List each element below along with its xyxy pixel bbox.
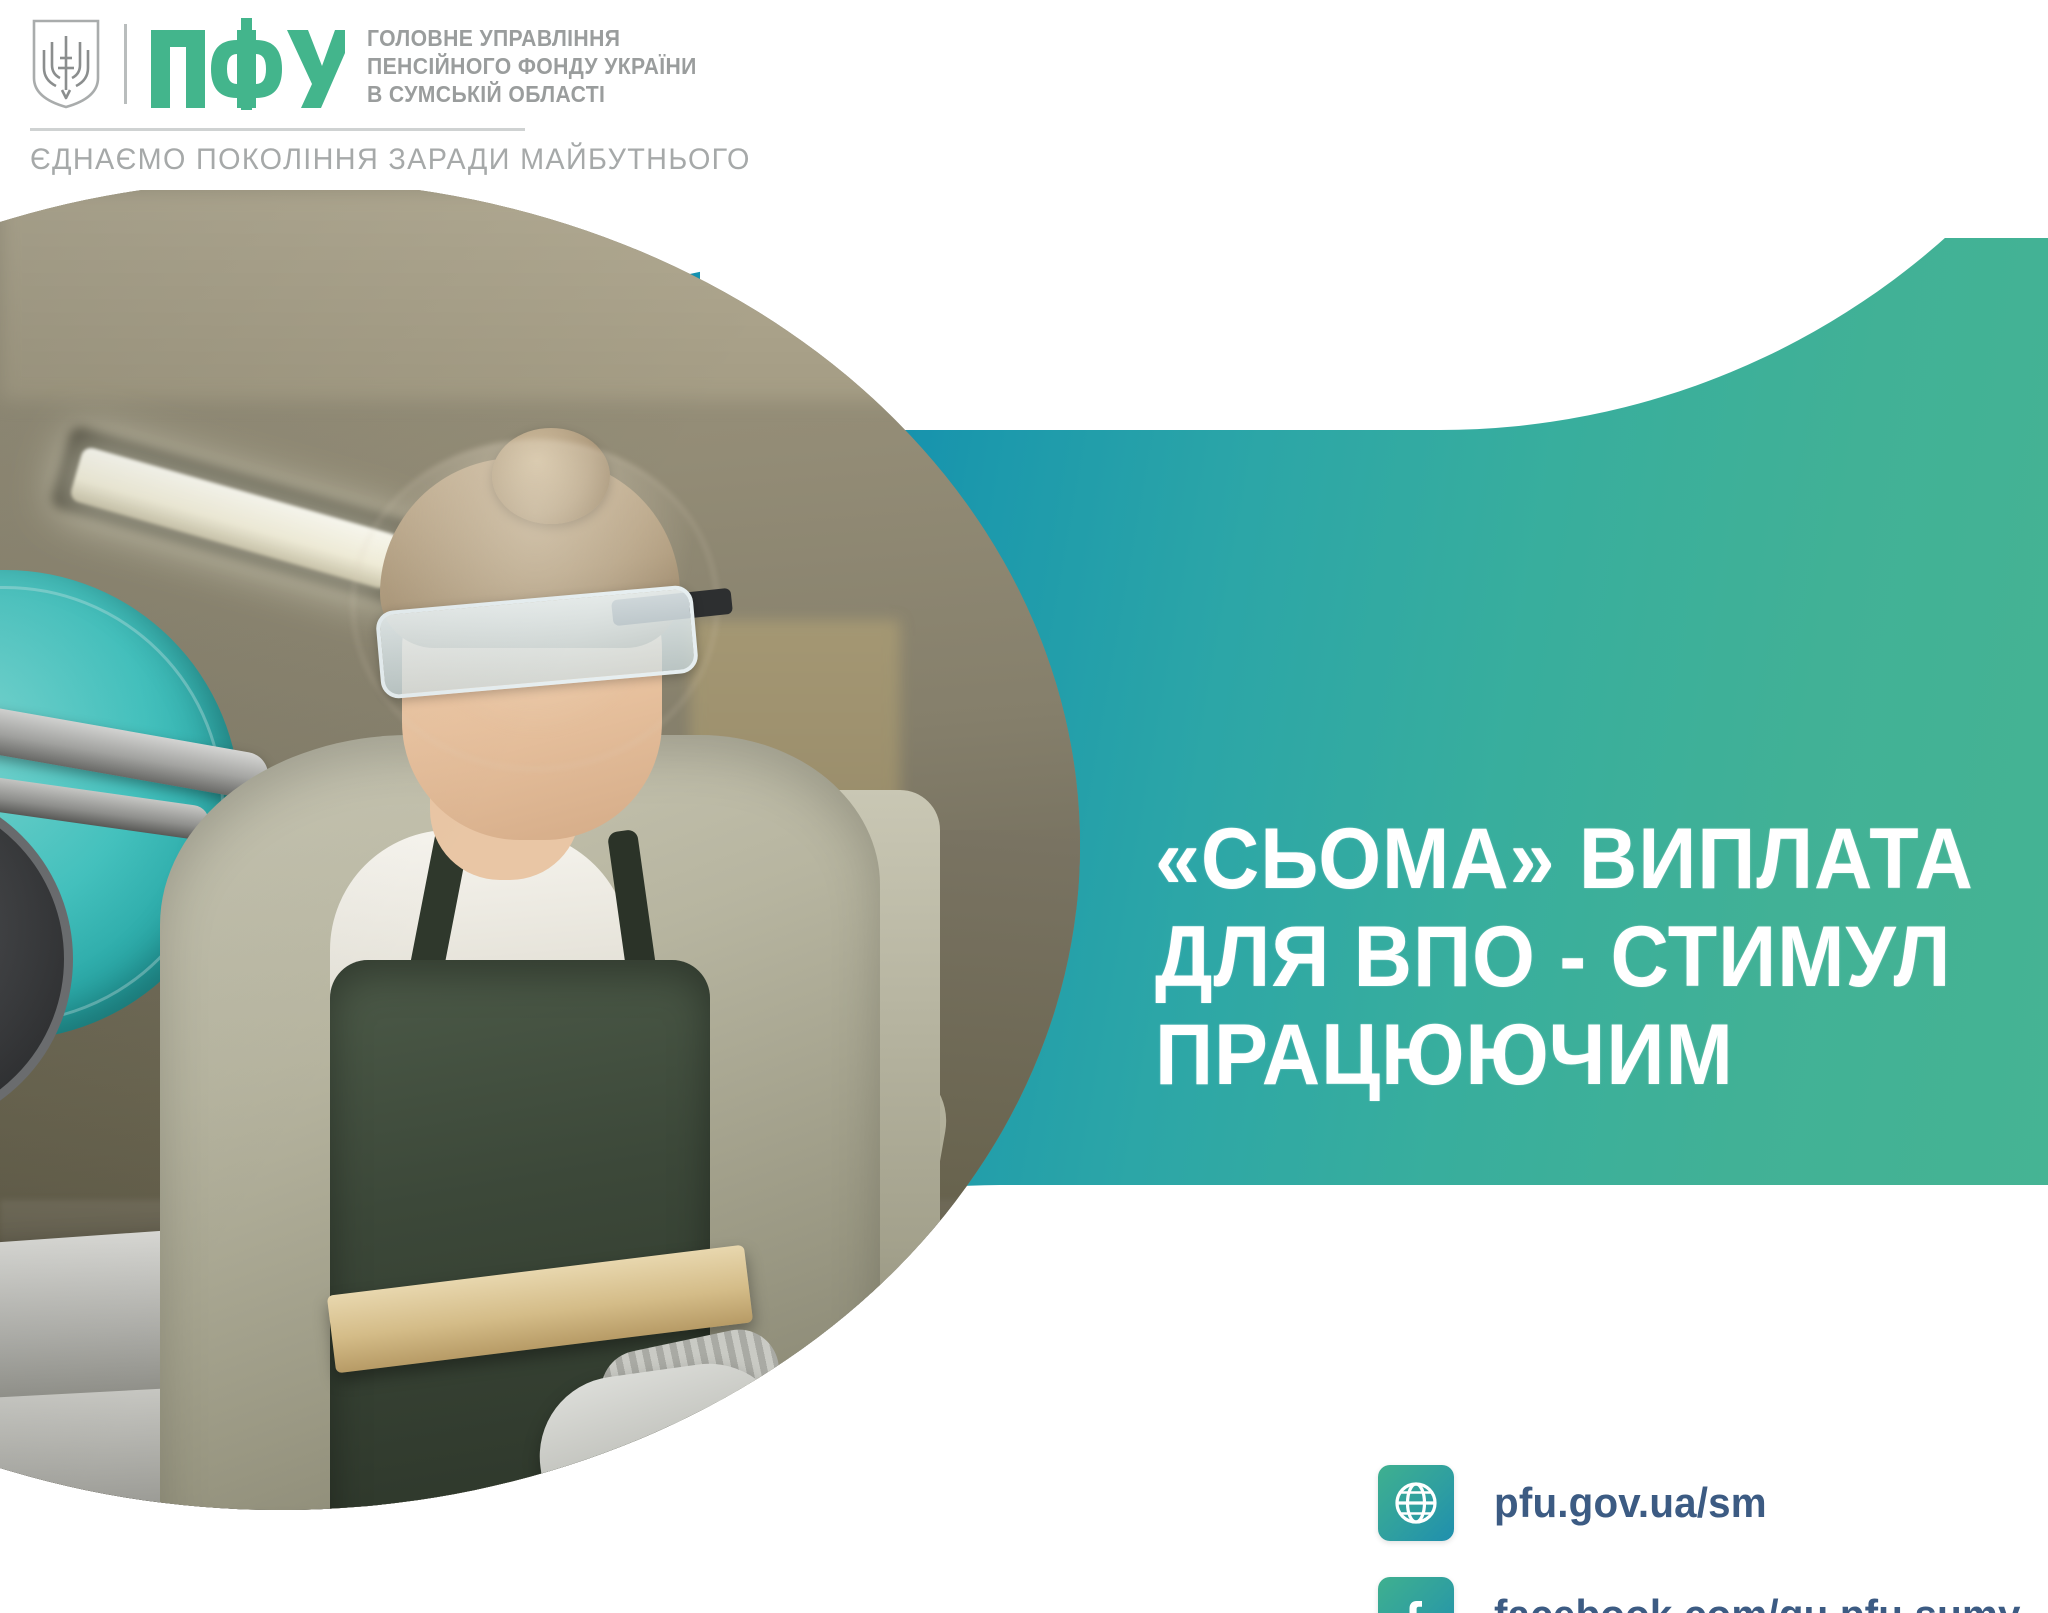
poster-canvas: «СЬОМА» ВИПЛАТА ДЛЯ ВПО - СТИМУЛ ПРАЦЮЮЧ… [0, 0, 2048, 1613]
photo-ceiling [0, 190, 1080, 400]
facebook-icon [1378, 1577, 1454, 1613]
hero-photo-disc [0, 190, 1080, 1510]
contact-list: pfu.gov.ua/sm facebook.com/gu.pfu.sumy [1378, 1465, 2043, 1613]
brand-header-inner: ГОЛОВНЕ УПРАВЛІННЯ ПЕНСІЙНОГО ФОНДУ УКРА… [30, 18, 725, 112]
header-divider-rule [30, 128, 525, 131]
ukraine-trident-emblem [30, 18, 102, 110]
brand-header: ГОЛОВНЕ УПРАВЛІННЯ ПЕНСІЙНОГО ФОНДУ УКРА… [0, 0, 2048, 190]
headline: «СЬОМА» ВИПЛАТА ДЛЯ ВПО - СТИМУЛ ПРАЦЮЮЧ… [1155, 810, 2035, 1104]
contact-row-website[interactable]: pfu.gov.ua/sm [1378, 1465, 2043, 1541]
workshop-photo-scene [0, 190, 1080, 1510]
contact-facebook-text: facebook.com/gu.pfu.sumy [1494, 1592, 2021, 1613]
contact-row-facebook[interactable]: facebook.com/gu.pfu.sumy [1378, 1577, 2043, 1613]
org-name: ГОЛОВНЕ УПРАВЛІННЯ ПЕНСІЙНОГО ФОНДУ УКРА… [367, 24, 725, 108]
headline-line-2: ДЛЯ ВПО - СТИМУЛ [1155, 908, 1982, 1006]
brand-tagline: ЄДНАЄМО ПОКОЛІННЯ ЗАРАДИ МАЙБУТНЬОГО [30, 140, 751, 180]
pfu-logo-mark [149, 16, 345, 112]
logo-divider [124, 24, 127, 104]
org-name-line-2: ПЕНСІЙНОГО ФОНДУ УКРАЇНИ [367, 52, 697, 80]
contact-website-text: pfu.gov.ua/sm [1494, 1480, 1767, 1526]
hero-stage: «СЬОМА» ВИПЛАТА ДЛЯ ВПО - СТИМУЛ ПРАЦЮЮЧ… [0, 190, 2048, 1613]
org-name-line-1: ГОЛОВНЕ УПРАВЛІННЯ [367, 24, 697, 52]
headline-line-3: ПРАЦЮЮЧИМ [1155, 1006, 1982, 1104]
headline-line-1: «СЬОМА» ВИПЛАТА [1155, 810, 1982, 908]
org-name-line-3: В СУМСЬКІЙ ОБЛАСТІ [367, 80, 697, 108]
globe-www-icon [1378, 1465, 1454, 1541]
